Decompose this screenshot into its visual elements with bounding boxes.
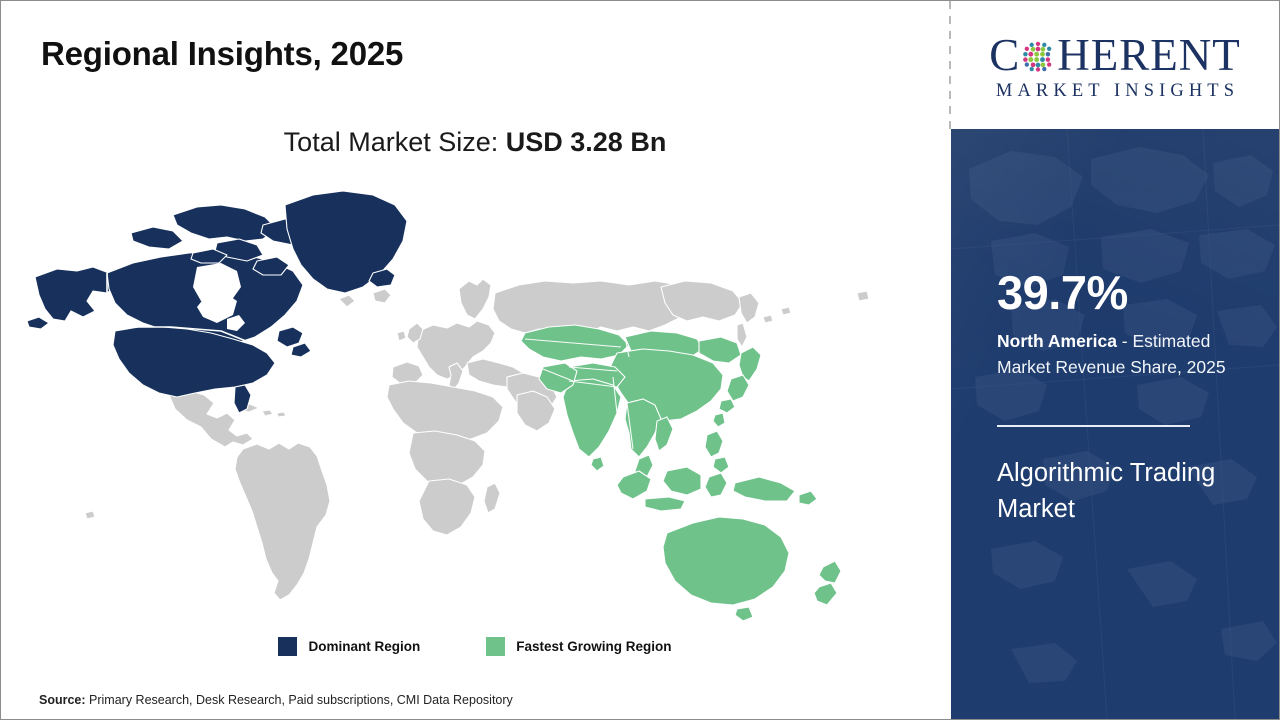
stat-region-name: North America [997,331,1117,351]
stat-panel: 39.7% North America - Estimated Market R… [951,129,1279,719]
market-name: Algorithmic Trading Market [997,455,1259,527]
page-title: Regional Insights, 2025 [41,35,403,73]
legend-label-fastest-growing: Fastest Growing Region [516,639,671,654]
legend-item-fastest-growing-region: Fastest Growing Region [486,637,671,656]
stat-block: 39.7% North America - Estimated Market R… [997,269,1265,381]
logo-tagline: MARKET INSIGHTS [991,81,1239,102]
panel-map-texture [951,129,1279,719]
legend-swatch-dominant [278,637,297,656]
market-size-value: USD 3.28 Bn [506,127,667,157]
legend-swatch-fastest-growing [486,637,505,656]
panel-map-texture-svg [951,129,1279,719]
sidebar: C [951,1,1279,719]
map-legend: Dominant Region Fastest Growing Region [1,637,949,656]
brand-logo: C [951,1,1279,129]
logo-wordmark-text: HERENT [1057,33,1240,78]
source-value: Primary Research, Desk Research, Paid su… [86,693,513,707]
legend-item-dominant-region: Dominant Region [278,637,420,656]
logo-wordmark: C [989,33,1241,79]
market-size-label: Total Market Size: [284,127,499,157]
left-panel: Regional Insights, 2025 Total Market Siz… [1,1,949,719]
source-label: Source: [39,693,86,707]
infographic-canvas: Regional Insights, 2025 Total Market Siz… [0,0,1280,720]
world-map-svg [21,181,881,621]
stat-description: North America - Estimated Market Revenue… [997,329,1265,381]
stat-percentage: 39.7% [997,269,1265,316]
logo-letter-c: C [989,33,1020,78]
total-market-size: Total Market Size: USD 3.28 Bn [1,127,949,158]
legend-label-dominant: Dominant Region [308,639,420,654]
dotted-globe-icon [1020,38,1056,74]
stat-divider-rule [997,425,1190,427]
world-map [21,181,881,621]
region-asia-pacific [521,325,841,621]
source-note: Source: Primary Research, Desk Research,… [39,693,513,707]
